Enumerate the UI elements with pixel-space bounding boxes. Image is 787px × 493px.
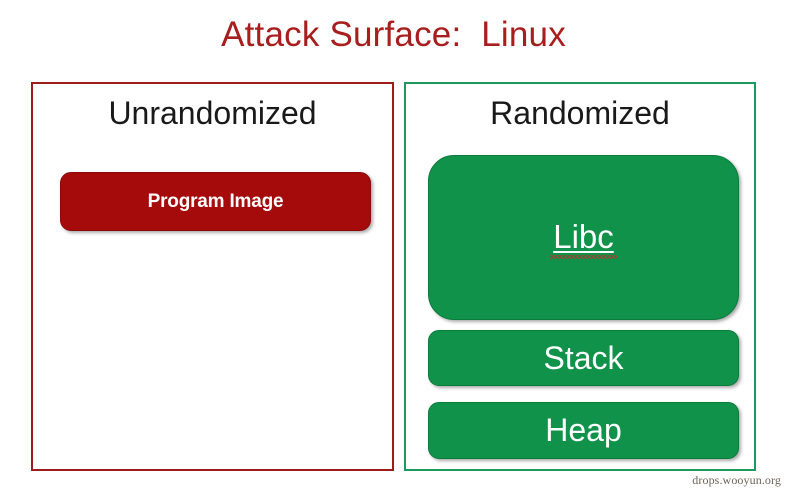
memory-region-libc[interactable]: Libc xyxy=(428,155,739,320)
panel-randomized-header: Randomized xyxy=(406,93,754,133)
source-watermark: drops.wooyun.org xyxy=(692,473,781,487)
panel-unrandomized: Unrandomized Program Image xyxy=(31,82,394,471)
memory-region-program-image[interactable]: Program Image xyxy=(60,172,371,231)
memory-region-heap[interactable]: Heap xyxy=(428,402,739,459)
page-title: Attack Surface: Linux xyxy=(0,14,787,56)
panel-unrandomized-header: Unrandomized xyxy=(33,93,392,133)
panel-randomized: Randomized Libc Stack Heap xyxy=(404,82,756,471)
memory-region-stack[interactable]: Stack xyxy=(428,330,739,386)
slide-canvas: Attack Surface: Linux Unrandomized Progr… xyxy=(0,0,787,493)
memory-region-libc-label: Libc xyxy=(553,218,614,258)
memory-region-heap-label: Heap xyxy=(545,412,622,449)
memory-region-stack-label: Stack xyxy=(543,340,623,377)
memory-region-program-image-label: Program Image xyxy=(148,191,284,213)
